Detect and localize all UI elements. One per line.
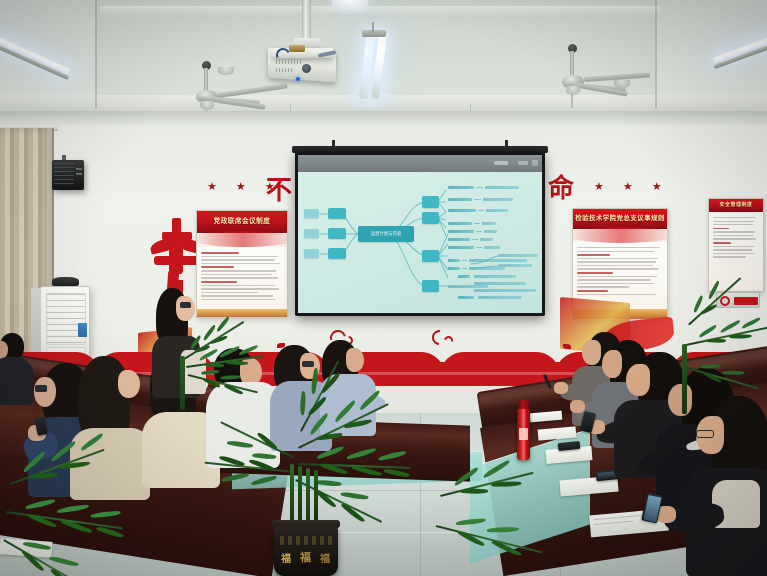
stars-right: ★ ★ ★ <box>594 180 670 193</box>
poster-left-title-text: 党政联席会议制度 <box>214 219 271 226</box>
eyeglasses-r2 <box>696 430 714 438</box>
planter-glyph-2: 福 <box>300 549 311 565</box>
slide-canvas: 运营计划与内容 <box>298 172 542 313</box>
mindmap-branch-1 <box>422 196 439 208</box>
screen-surface: 运营计划与内容 <box>298 155 542 313</box>
mindmap-left-tag-1 <box>304 209 319 218</box>
thermos-cap[interactable] <box>518 400 529 409</box>
mindmap-left-tag-2 <box>304 229 319 238</box>
slogan-char-right: 命 <box>548 168 574 205</box>
plant-foreground-right <box>430 470 590 576</box>
poster-left-title: 党政联席会议制度 <box>197 211 287 233</box>
conference-room-photo: 党政联席会议制度 检 <box>0 0 767 576</box>
eyeglasses-l3 <box>302 361 314 367</box>
planter-glyph-3: 福 <box>320 550 330 565</box>
mindmap-left-node-1 <box>328 208 346 219</box>
ceiling-seam-left <box>95 0 97 108</box>
mindmap-left-tag-3 <box>304 249 319 258</box>
poster-far-right-title: 安全管理制度 <box>709 199 763 212</box>
poster-left-arc <box>196 231 288 247</box>
mindmap-branch-3 <box>422 250 439 262</box>
fan-canopy-left <box>218 67 234 75</box>
ceiling-lamp-top <box>332 0 368 10</box>
poster-far-right-title-text: 安全管理制度 <box>719 203 752 208</box>
poster-right-arc <box>572 227 668 243</box>
projection-screen[interactable]: 运营计划与内容 <box>295 152 545 316</box>
ceiling-beam <box>0 95 767 111</box>
plant-back-left <box>178 300 288 410</box>
wall-speaker <box>52 160 84 190</box>
screen-hook-right <box>505 140 508 148</box>
plant-foreground-center: 福 福 福 <box>214 408 444 576</box>
mindmap-branch-2 <box>422 212 439 224</box>
slide-toolbar[interactable] <box>298 155 542 172</box>
tube-wire-center <box>372 22 374 32</box>
fan-canopy-right <box>614 80 630 88</box>
plant-back-right <box>648 300 767 420</box>
mindmap-left-node-2 <box>328 228 346 239</box>
plant-foreground-left <box>0 448 210 576</box>
ceiling-seam-right <box>655 0 657 108</box>
ceiling-beam-upper <box>100 6 660 15</box>
poster-right-title-text: 检验技术学院党总支议事规则 <box>575 216 665 223</box>
mindmap-root-node: 运营计划与内容 <box>358 226 414 242</box>
tube-housing-center <box>362 30 386 37</box>
planter: 福 福 福 <box>274 526 338 576</box>
eyeglasses-l7 <box>35 385 47 392</box>
planter-glyph-1: 福 <box>281 550 291 565</box>
person-right-2 <box>690 396 767 576</box>
screen-hook-left <box>332 140 335 148</box>
poster-right-title: 检验技术学院党总支议事规则 <box>573 209 667 229</box>
mindmap-branch-4 <box>422 280 439 292</box>
slogan-char-left: 不 <box>266 170 292 207</box>
mindmap-left-node-3 <box>328 248 346 259</box>
wall-top-shadow <box>0 111 767 127</box>
thermos-flask[interactable] <box>517 408 530 460</box>
